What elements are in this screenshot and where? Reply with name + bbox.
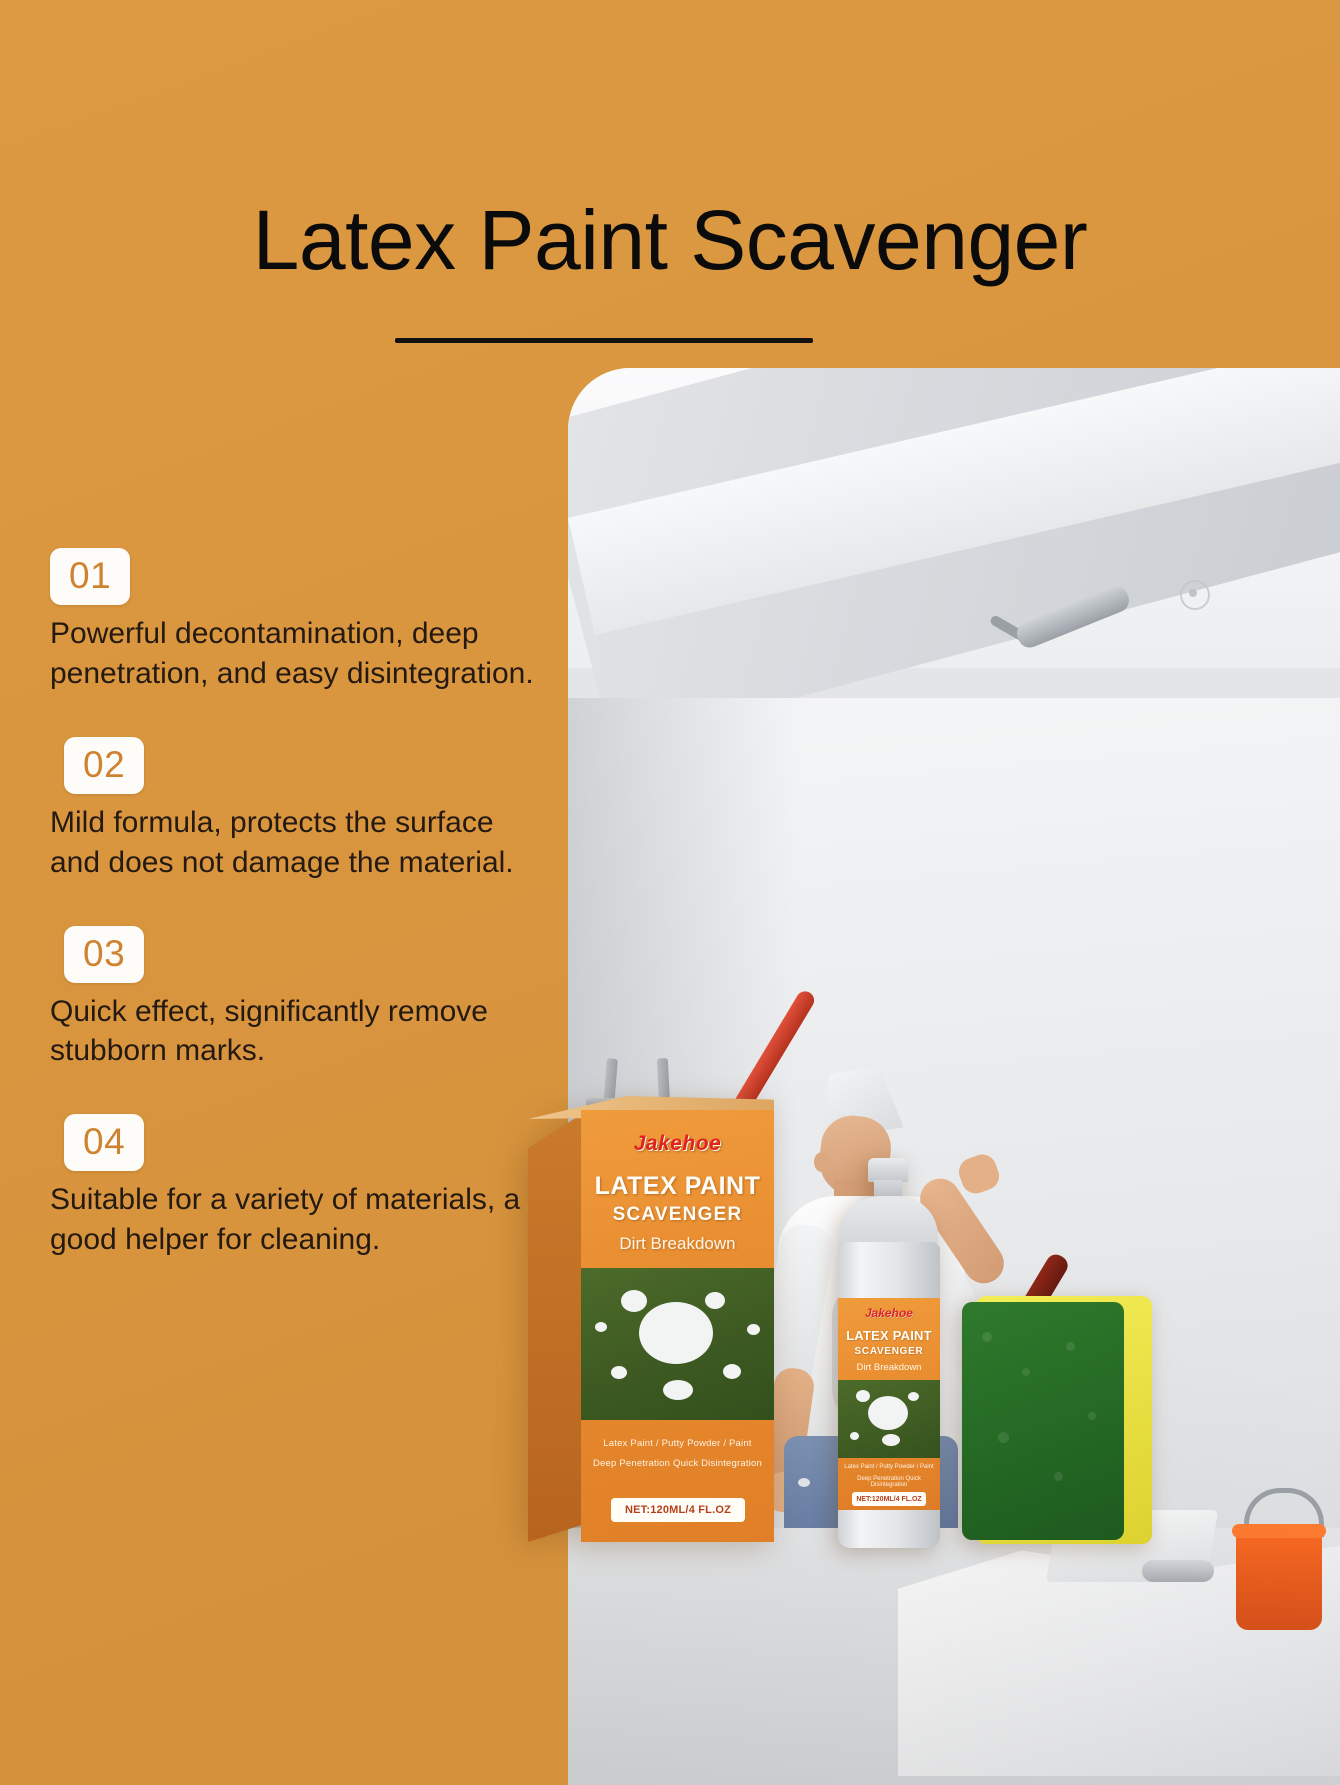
bottle-product-name-line2: SCAVENGER	[838, 1346, 940, 1357]
paint-blob	[868, 1396, 908, 1430]
bottle-product-name-line1: LATEX PAINT	[838, 1328, 940, 1343]
paint-blob	[882, 1434, 900, 1446]
paint-blob	[723, 1364, 741, 1379]
sponge-texture-dot	[982, 1332, 992, 1342]
bottle-product-tagline: Dirt Breakdown	[838, 1362, 940, 1373]
product-infographic: Latex Paint Scavenger	[0, 0, 1340, 1785]
sponge-texture-dot	[1022, 1368, 1030, 1376]
bottle-shoulder	[840, 1196, 938, 1248]
feature-item-02: 02 Mild formula, protects the surface an…	[50, 737, 570, 883]
product-box-package: Jakehoe LATEX PAINT SCAVENGER Dirt Break…	[528, 1096, 774, 1542]
box-front-panel: Jakehoe LATEX PAINT SCAVENGER Dirt Break…	[581, 1110, 774, 1542]
paint-splatter	[798, 1478, 810, 1487]
bottle-label: Jakehoe LATEX PAINT SCAVENGER Dirt Break…	[838, 1298, 940, 1510]
paint-blob	[747, 1324, 760, 1335]
box-green-splatter-panel	[581, 1268, 774, 1420]
bottle-net-volume-label: NET:120ML/4 FL.OZ	[852, 1492, 926, 1506]
box-fineprint-materials: Latex Paint / Putty Powder / Paint	[581, 1438, 774, 1449]
paint-blob	[621, 1290, 647, 1312]
sponge-texture-dot	[998, 1432, 1009, 1443]
box-left-side-panel	[528, 1114, 582, 1542]
right-hand	[955, 1151, 1003, 1198]
box-net-volume-label: NET:120ML/4 FL.OZ	[611, 1498, 745, 1522]
sponge-green-scrub-pad	[962, 1302, 1124, 1540]
paint-blob	[595, 1322, 607, 1332]
feature-badge-number: 01	[50, 548, 130, 605]
box-product-name-line1: LATEX PAINT	[581, 1172, 774, 1201]
feature-description: Suitable for a variety of materials, a g…	[50, 1180, 550, 1260]
feature-item-04: 04 Suitable for a variety of materials, …	[50, 1114, 570, 1260]
paint-blob	[705, 1292, 725, 1309]
sponge-texture-dot	[1088, 1412, 1096, 1420]
paint-blob	[856, 1390, 870, 1402]
feature-item-01: 01 Powerful decontamination, deep penetr…	[50, 548, 570, 694]
feature-description: Powerful decontamination, deep penetrati…	[50, 614, 550, 694]
title-underline-divider	[395, 338, 813, 343]
feature-item-03: 03 Quick effect, significantly remove st…	[50, 926, 570, 1072]
page-title: Latex Paint Scavenger	[0, 196, 1340, 284]
feature-description: Mild formula, protects the surface and d…	[50, 803, 550, 883]
bottle-green-splatter-panel	[838, 1380, 940, 1458]
feature-badge-number: 04	[64, 1114, 144, 1171]
bottle-fineprint-materials: Latex Paint / Putty Powder / Paint	[838, 1464, 940, 1470]
orange-paint-bucket	[1236, 1530, 1322, 1630]
feature-badge-number: 03	[64, 926, 144, 983]
paint-blob	[639, 1302, 713, 1364]
bucket-rim	[1232, 1524, 1326, 1538]
feature-badge-number: 02	[64, 737, 144, 794]
bottle-brand-logo: Jakehoe	[838, 1306, 940, 1320]
paint-blob	[850, 1432, 859, 1440]
paint-blob	[611, 1366, 627, 1379]
cleaning-sponge-product	[962, 1296, 1152, 1546]
sponge-texture-dot	[1054, 1472, 1063, 1481]
box-product-name-line2: SCAVENGER	[581, 1204, 774, 1226]
spray-bottle-product: Jakehoe LATEX PAINT SCAVENGER Dirt Break…	[826, 1158, 952, 1552]
box-product-tagline: Dirt Breakdown	[581, 1234, 774, 1254]
ceiling-light-icon	[1180, 580, 1210, 610]
box-fineprint-benefits: Deep Penetration Quick Disintegration	[581, 1458, 774, 1469]
bottle-fineprint-benefits: Deep Penetration Quick Disintegration	[838, 1476, 940, 1488]
hero-photo-painter-ceiling	[568, 368, 1340, 1785]
box-brand-logo: Jakehoe	[581, 1132, 774, 1156]
feature-list: 01 Powerful decontamination, deep penetr…	[50, 548, 570, 1303]
sponge-texture-dot	[1066, 1342, 1075, 1351]
paint-blob	[908, 1392, 919, 1401]
spare-roller	[1142, 1560, 1214, 1582]
paint-blob	[663, 1380, 693, 1400]
feature-description: Quick effect, significantly remove stubb…	[50, 992, 550, 1072]
bottle-nozzle-cap	[868, 1158, 908, 1182]
